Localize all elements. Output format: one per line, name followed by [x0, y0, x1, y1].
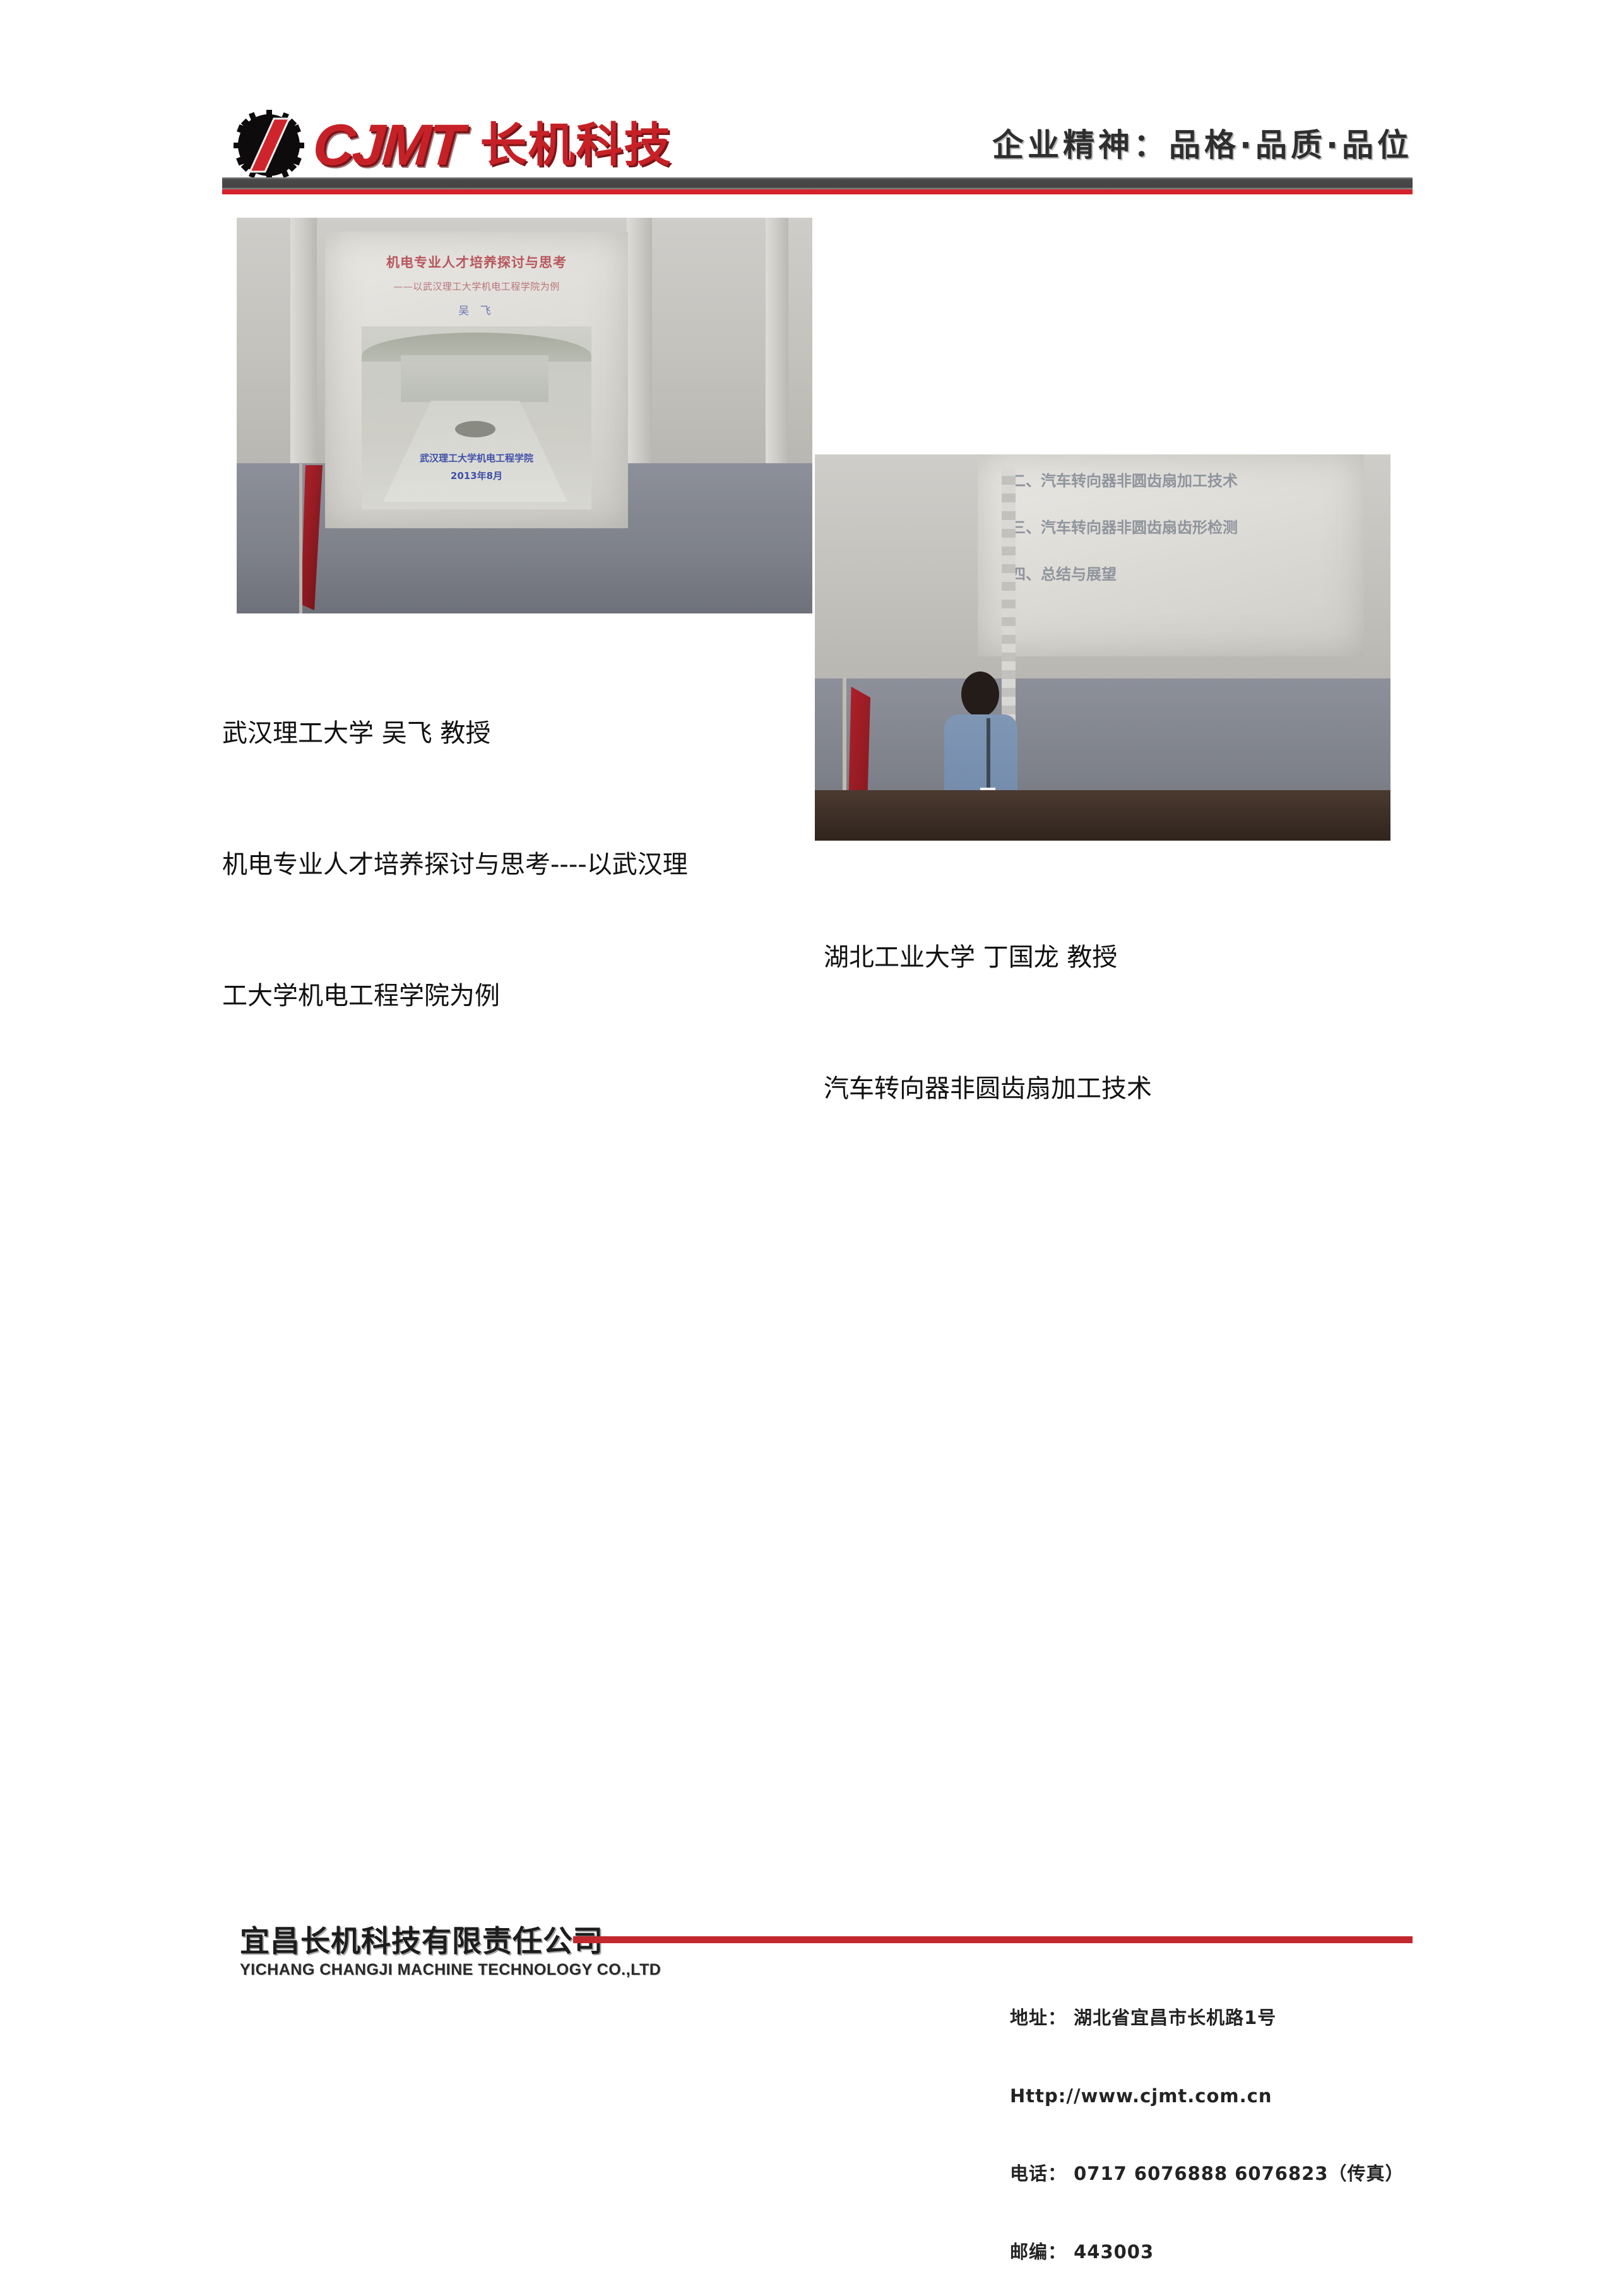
photo1-slide-campus-building — [401, 355, 548, 402]
brand-latin: CJMT — [311, 116, 463, 174]
photo-wuhan-lecture: 机电专业人才培养探讨与思考 ——以武汉理工大学机电工程学院为例 吴 飞 武汉理工… — [237, 218, 812, 613]
slide-canvas: CJMT 长机科技 企业精神：品格·品质·品位 机电专业人才培养探讨与思考 ——… — [0, 0, 1624, 1148]
footer-divider-red — [573, 1936, 1413, 1943]
photo1-pillar-far-right — [766, 218, 788, 463]
photo2-floor — [815, 790, 1390, 841]
footer-phone: 电话： 0717 6076888 6076823（传真） — [1010, 2161, 1404, 2187]
company-logo: CJMT 长机科技 — [234, 107, 672, 183]
photo1-pillar-left — [290, 218, 317, 463]
photo2-slide-item-2: 三、汽车转向器非圆齿扇齿形检测 — [1011, 515, 1238, 537]
photo2-screen-perforation — [1002, 467, 1016, 732]
photo1-slide-subtitle: ——以武汉理工大学机电工程学院为例 — [325, 281, 628, 293]
photo1-slide-title: 机电专业人才培养探讨与思考 — [325, 254, 628, 271]
photo2-slide-item-1: 二、汽车转向器非圆齿扇加工技术 — [1011, 468, 1238, 490]
footer-company-block: 宜昌长机科技有限责任公司 YICHANG CHANGJI MACHINE TEC… — [240, 1926, 661, 1979]
footer-website[interactable]: Http://www.cjmt.com.cn — [1010, 2083, 1404, 2109]
photo-hubei-lecture: 二、汽车转向器非圆齿扇加工技术 三、汽车转向器非圆齿扇齿形检测 四、总结与展望 — [815, 454, 1390, 841]
header-divider — [222, 177, 1413, 194]
photo2-presenter-lanyard — [987, 718, 990, 788]
photo2-slide-item-3: 四、总结与展望 — [1011, 562, 1117, 584]
footer-company-en: YICHANG CHANGJI MACHINE TECHNOLOGY CO.,L… — [240, 1961, 661, 1979]
company-tagline: 企业精神：品格·品质·品位 — [992, 120, 1413, 165]
footer-postcode: 邮编： 443003 — [1010, 2239, 1404, 2265]
header-divider-red — [222, 189, 1413, 194]
photo1-slide-footer-line2: 2013年8月 — [325, 470, 628, 482]
footer-contact-block: 地址： 湖北省宜昌市长机路1号 Http://www.cjmt.com.cn 电… — [1010, 1953, 1404, 2296]
caption-wuhan-line2: 机电专业人才培养探讨与思考----以武汉理 — [222, 844, 790, 885]
photo2-presenter-head — [961, 672, 999, 717]
header-divider-grey — [222, 177, 1413, 189]
caption-wuhan-line1: 武汉理工大学 吴飞 教授 — [222, 713, 790, 754]
photo1-flag-pole — [299, 463, 302, 613]
photo1-slide-footer-line1: 武汉理工大学机电工程学院 — [325, 453, 628, 465]
gear-slash-icon — [234, 110, 304, 180]
brand-chinese: 长机科技 — [480, 122, 672, 169]
slide-footer: 宜昌长机科技有限责任公司 YICHANG CHANGJI MACHINE TEC… — [0, 959, 1624, 1148]
photo2-projection-screen: 二、汽车转向器非圆齿扇加工技术 三、汽车转向器非圆齿扇齿形检测 四、总结与展望 — [978, 454, 1364, 656]
photo1-projection-screen: 机电专业人才培养探讨与思考 ——以武汉理工大学机电工程学院为例 吴 飞 武汉理工… — [325, 232, 628, 528]
slide-header: CJMT 长机科技 企业精神：品格·品质·品位 — [0, 0, 1624, 189]
photo1-slide-author: 吴 飞 — [325, 305, 628, 318]
footer-address: 地址： 湖北省宜昌市长机路1号 — [1010, 2005, 1404, 2031]
photo1-slide-campus-fountain — [455, 421, 495, 437]
photo1-pillar-right — [627, 218, 652, 463]
